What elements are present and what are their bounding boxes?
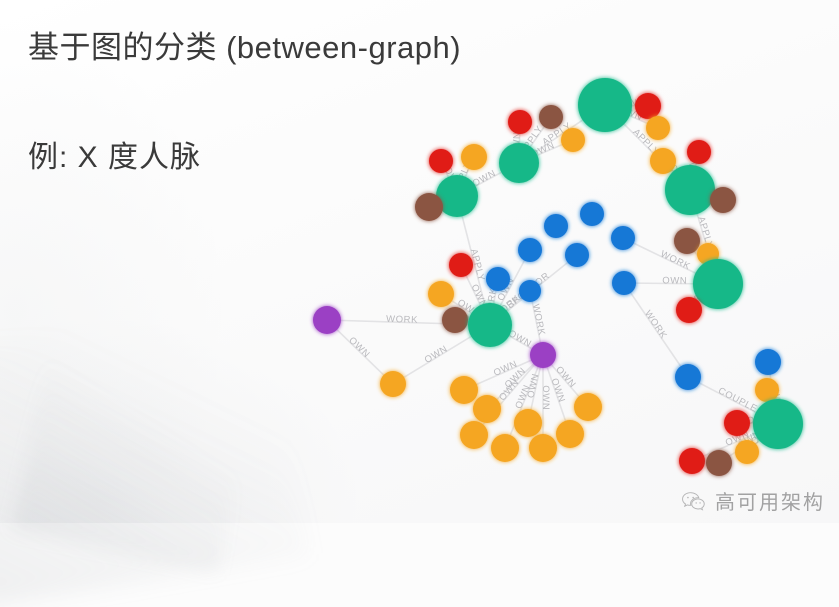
graph-node[interactable]	[561, 128, 585, 152]
graph-node[interactable]	[428, 281, 454, 307]
graph-node[interactable]	[674, 228, 700, 254]
graph-node[interactable]	[529, 434, 557, 462]
graph-node[interactable]	[499, 143, 539, 183]
graph-node[interactable]	[753, 399, 803, 449]
graph-node[interactable]	[539, 105, 563, 129]
graph-node[interactable]	[710, 187, 736, 213]
graph-node[interactable]	[687, 140, 711, 164]
wechat-icon	[681, 490, 707, 512]
graph-node[interactable]	[518, 238, 542, 262]
graph-node[interactable]	[706, 450, 732, 476]
graph-node[interactable]	[755, 349, 781, 375]
graph-node[interactable]	[508, 110, 532, 134]
graph-node[interactable]	[313, 306, 341, 334]
graph-node[interactable]	[491, 434, 519, 462]
graph-node[interactable]	[450, 376, 478, 404]
graph-node[interactable]	[460, 421, 488, 449]
graph-node[interactable]	[646, 116, 670, 140]
graph-edge-label: OWN	[346, 335, 372, 360]
slide-canvas: 基于图的分类 (between-graph) 例: X 度人脉 WORKOWNO…	[0, 0, 839, 523]
graph-node[interactable]	[415, 193, 443, 221]
graph-node[interactable]	[693, 259, 743, 309]
graph-node[interactable]	[578, 78, 632, 132]
graph-node[interactable]	[665, 165, 715, 215]
graph-node[interactable]	[556, 420, 584, 448]
watermark-text: 高可用架构	[715, 486, 825, 515]
graph-edge-label: WORK	[642, 309, 669, 342]
graph-node[interactable]	[679, 448, 705, 474]
graph-node[interactable]	[449, 253, 473, 277]
graph-node[interactable]	[544, 214, 568, 238]
graph-node[interactable]	[519, 280, 541, 302]
graph-edge-label: OWN	[662, 275, 687, 286]
graph-node[interactable]	[612, 271, 636, 295]
graph-node[interactable]	[530, 342, 556, 368]
graph-node[interactable]	[429, 149, 453, 173]
graph-node[interactable]	[442, 307, 468, 333]
graph-node[interactable]	[580, 202, 604, 226]
graph-edge-label: OWN	[540, 385, 551, 410]
graph-node[interactable]	[565, 243, 589, 267]
graph-node[interactable]	[514, 409, 542, 437]
graph-visualization: WORKOWNOWNOWNOWNOWNOWNWORKWORKSPONSORAPP…	[0, 0, 839, 523]
graph-node[interactable]	[461, 144, 487, 170]
graph-node[interactable]	[574, 393, 602, 421]
graph-node[interactable]	[468, 303, 512, 347]
graph-node[interactable]	[486, 267, 510, 291]
graph-edge-label: WORK	[386, 314, 418, 326]
graph-node[interactable]	[735, 440, 759, 464]
watermark: 高可用架构	[681, 486, 825, 515]
graph-node[interactable]	[755, 378, 779, 402]
graph-node[interactable]	[676, 297, 702, 323]
graph-node[interactable]	[611, 226, 635, 250]
graph-node[interactable]	[473, 395, 501, 423]
graph-node[interactable]	[675, 364, 701, 390]
graph-edge-label: OWN	[526, 372, 542, 399]
graph-node[interactable]	[650, 148, 676, 174]
graph-node[interactable]	[724, 410, 750, 436]
graph-node[interactable]	[635, 93, 661, 119]
graph-node[interactable]	[380, 371, 406, 397]
graph-edge-label: OWN	[423, 344, 450, 366]
graph-edge-label: WORK	[530, 303, 547, 337]
